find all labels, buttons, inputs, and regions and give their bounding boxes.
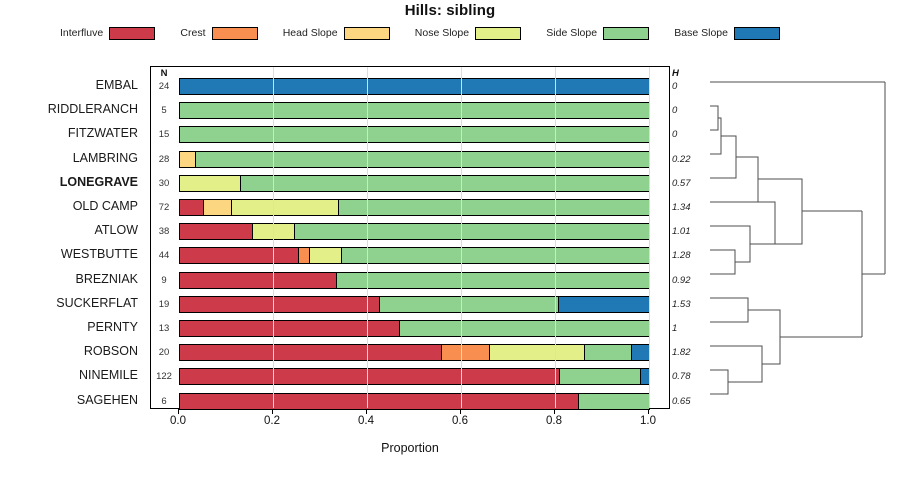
legend: InterfluveCrestHead SlopeNose SlopeSide … [60, 24, 780, 42]
x-axis-tick [460, 409, 461, 414]
bar-segment-interfluve [179, 344, 442, 361]
bar-segment-side-slope [338, 199, 650, 216]
n-value: 30 [152, 178, 176, 189]
bar-segment-base-slope [558, 296, 650, 313]
legend-swatch [109, 27, 155, 40]
legend-item-label: Base Slope [674, 27, 728, 39]
n-value: 122 [152, 371, 176, 382]
x-axis-tick-label: 0.4 [346, 415, 386, 427]
bar-row [151, 344, 671, 361]
legend-item-label: Nose Slope [415, 27, 469, 39]
category-label: BREZNIAK [75, 272, 138, 286]
legend-item-label: Side Slope [546, 27, 597, 39]
bar-segment-nose-slope [231, 199, 339, 216]
bar-segment-side-slope [179, 126, 650, 143]
legend-item-nose-slope: Nose Slope [415, 27, 521, 40]
plot-gridline [273, 67, 274, 408]
x-axis-tick [648, 409, 649, 414]
bar-segment-side-slope [584, 344, 632, 361]
x-axis: 0.00.20.40.60.81.0 [150, 409, 670, 439]
bar-segment-side-slope [399, 320, 650, 337]
plot-gridline [367, 67, 368, 408]
legend-item-label: Crest [180, 27, 205, 39]
chart-root: Hills: sibling InterfluveCrestHead Slope… [0, 0, 900, 480]
dendrogram-svg [690, 60, 900, 410]
bar-segment-interfluve [179, 247, 299, 264]
legend-item-interfluve: Interfluve [60, 27, 155, 40]
page-title: Hills: sibling [0, 2, 900, 19]
category-label: LONEGRAVE [60, 175, 138, 189]
bar-segment-nose-slope [309, 247, 342, 264]
bar-row [151, 247, 671, 264]
n-value: 9 [152, 275, 176, 286]
dendrogram [690, 60, 900, 410]
bar-segment-side-slope [578, 393, 650, 410]
bar-segment-crest [441, 344, 490, 361]
x-axis-tick [366, 409, 367, 414]
bar-row [151, 368, 671, 385]
n-value: 28 [152, 154, 176, 165]
x-axis-tick [554, 409, 555, 414]
bar-segment-side-slope [341, 247, 650, 264]
bar-segment-nose-slope [489, 344, 585, 361]
category-label: ATLOW [94, 223, 138, 237]
bar-row [151, 223, 671, 240]
bar-segment-nose-slope [179, 175, 241, 192]
bar-segment-side-slope [179, 102, 650, 119]
bar-segment-side-slope [240, 175, 650, 192]
bar-row [151, 272, 671, 289]
bar-segment-interfluve [179, 272, 337, 289]
bar-row [151, 126, 671, 143]
n-column-header: N [152, 68, 176, 79]
legend-swatch [475, 27, 521, 40]
bar-row [151, 199, 671, 216]
bar-row [151, 102, 671, 119]
bar-segment-interfluve [179, 296, 380, 313]
plot-gridline [461, 67, 462, 408]
n-value: 44 [152, 250, 176, 261]
bar-segment-side-slope [559, 368, 640, 385]
bar-segment-interfluve [179, 393, 579, 410]
legend-swatch [603, 27, 649, 40]
bar-row [151, 78, 671, 95]
legend-item-crest: Crest [180, 27, 257, 40]
category-label: FITZWATER [68, 126, 138, 140]
n-value: 24 [152, 81, 176, 92]
category-label: PERNTY [87, 320, 138, 334]
n-value: 72 [152, 202, 176, 213]
category-label: SUCKERFLAT [56, 296, 138, 310]
n-value: 19 [152, 299, 176, 310]
x-axis-tick-label: 1.0 [628, 415, 668, 427]
bar-row [151, 151, 671, 168]
legend-item-label: Interfluve [60, 27, 103, 39]
plot-gridline [649, 67, 650, 408]
legend-swatch [734, 27, 780, 40]
legend-item-head-slope: Head Slope [283, 27, 390, 40]
bar-row [151, 320, 671, 337]
x-axis-tick-label: 0.0 [158, 415, 198, 427]
category-label: RIDDLERANCH [48, 102, 138, 116]
legend-item-label: Head Slope [283, 27, 338, 39]
bar-segment-side-slope [294, 223, 650, 240]
bar-row [151, 296, 671, 313]
legend-swatch [344, 27, 390, 40]
n-value: 38 [152, 226, 176, 237]
x-axis-tick-label: 0.6 [440, 415, 480, 427]
bar-segment-base-slope [631, 344, 650, 361]
bar-segment-interfluve [179, 199, 204, 216]
x-axis-tick-label: 0.8 [534, 415, 574, 427]
category-label: SAGEHEN [77, 393, 138, 407]
n-value: 15 [152, 129, 176, 140]
bar-segment-head-slope [179, 151, 196, 168]
category-label: EMBAL [96, 78, 138, 92]
stacked-bars [151, 67, 671, 410]
x-axis-tick [178, 409, 179, 414]
x-axis-label: Proportion [150, 441, 670, 455]
category-label: LAMBRING [73, 151, 138, 165]
bar-segment-interfluve [179, 368, 560, 385]
bar-row [151, 175, 671, 192]
plot-gridline [555, 67, 556, 408]
x-axis-tick-label: 0.2 [252, 415, 292, 427]
legend-item-base-slope: Base Slope [674, 27, 780, 40]
category-label: ROBSON [84, 344, 138, 358]
category-label: WESTBUTTE [61, 247, 138, 261]
category-label: NINEMILE [79, 368, 138, 382]
bar-segment-base-slope [179, 78, 650, 95]
bar-segment-side-slope [195, 151, 650, 168]
legend-item-side-slope: Side Slope [546, 27, 649, 40]
category-label: OLD CAMP [73, 199, 138, 213]
n-value: 6 [152, 396, 176, 407]
x-axis-tick [272, 409, 273, 414]
bar-segment-interfluve [179, 223, 253, 240]
n-value: 5 [152, 105, 176, 116]
bar-segment-side-slope [336, 272, 650, 289]
plot-area [150, 66, 670, 409]
legend-swatch [212, 27, 258, 40]
category-label-column: EMBALRIDDLERANCHFITZWATERLAMBRINGLONEGRA… [0, 66, 146, 409]
bar-segment-side-slope [379, 296, 559, 313]
bar-segment-head-slope [203, 199, 232, 216]
n-value: 20 [152, 347, 176, 358]
bar-row [151, 393, 671, 410]
n-value: 13 [152, 323, 176, 334]
